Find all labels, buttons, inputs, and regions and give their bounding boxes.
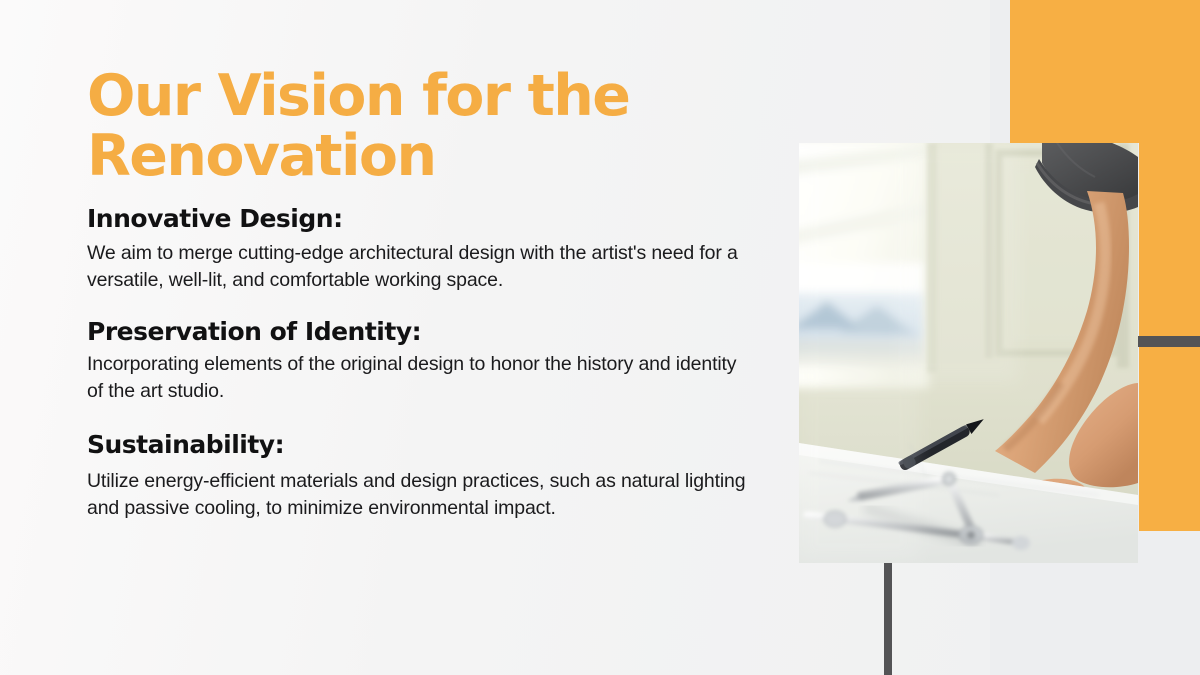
dark-bar-vertical [884, 563, 892, 675]
section-heading: Sustainability: [87, 428, 762, 461]
section-sustainability: Sustainability: Utilize energy-efficient… [87, 428, 762, 521]
section-heading: Innovative Design: [87, 202, 762, 235]
slide-canvas: Our Vision for the Renovation Innovative… [0, 0, 1200, 675]
section-heading: Preservation of Identity: [87, 315, 762, 348]
dark-bar-horizontal [1138, 336, 1200, 347]
text-column: Our Vision for the Renovation Innovative… [87, 66, 762, 537]
architect-drafting-photo [799, 143, 1138, 563]
section-preservation-of-identity: Preservation of Identity: Incorporating … [87, 315, 762, 404]
page-title: Our Vision for the Renovation [87, 66, 762, 186]
title-line-1: Our Vision for the [87, 63, 629, 129]
photo-illustration [799, 143, 1138, 563]
section-body: Incorporating elements of the original d… [87, 351, 752, 404]
section-innovative-design: Innovative Design: We aim to merge cutti… [87, 202, 762, 293]
section-body: Utilize energy-efficient materials and d… [87, 468, 752, 521]
section-body: We aim to merge cutting-edge architectur… [87, 240, 752, 293]
title-line-2: Renovation [87, 123, 435, 189]
orange-block-top-right [1010, 0, 1200, 143]
